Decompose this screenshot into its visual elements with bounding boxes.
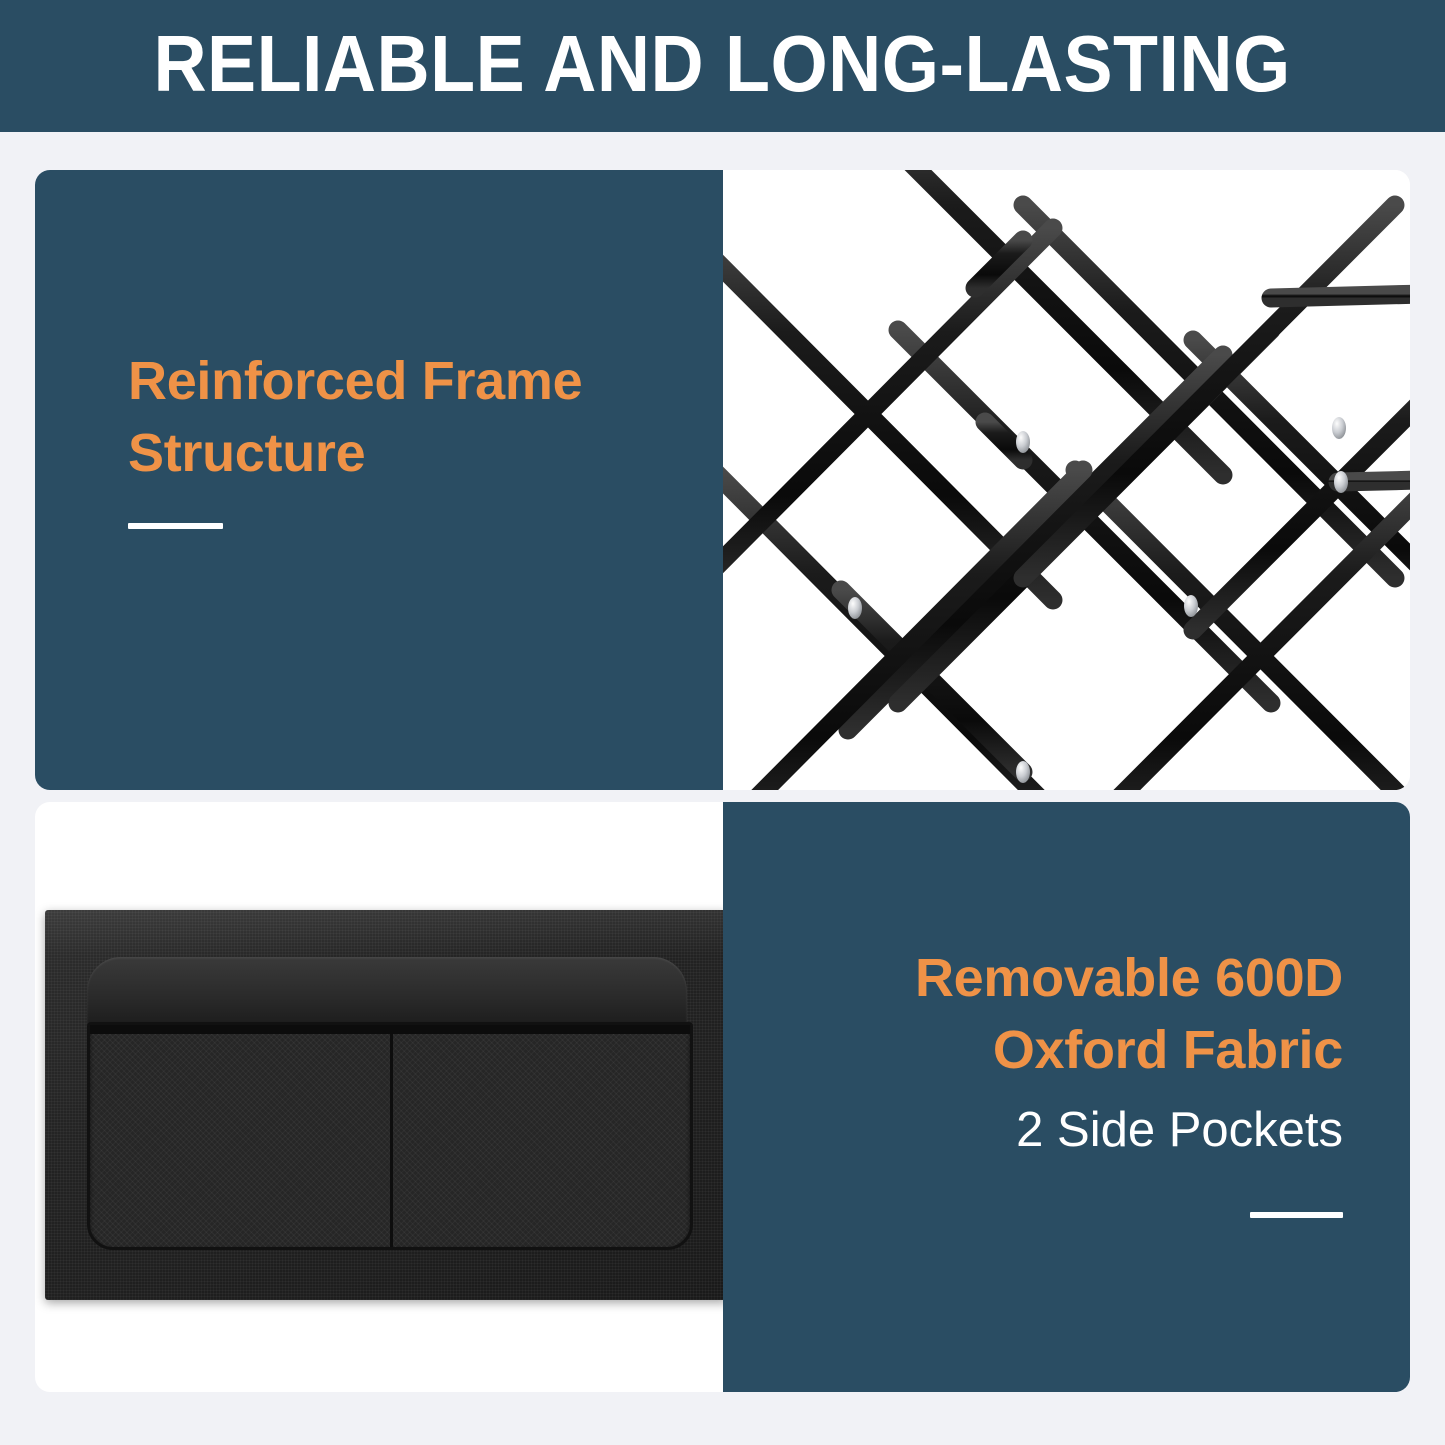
fabric-subheading: 2 Side Pockets <box>843 1098 1343 1162</box>
frame-heading-line-2: Structure <box>128 417 668 489</box>
fabric-text-block: Removable 600D Oxford Fabric 2 Side Pock… <box>843 942 1343 1218</box>
panel-frame-photo <box>723 170 1410 790</box>
panel-reinforced-frame-text: Reinforced Frame Structure <box>35 170 723 790</box>
fabric-heading-line-1: Removable 600D <box>843 942 1343 1014</box>
pocket-top-band <box>90 1025 690 1034</box>
fabric-top-flap <box>87 957 687 1025</box>
frame-text-block: Reinforced Frame Structure <box>128 345 668 529</box>
fabric-side-pockets <box>87 1022 693 1250</box>
fabric-heading-line-2: Oxford Fabric <box>843 1014 1343 1086</box>
oxford-fabric-cover <box>45 910 723 1300</box>
product-infographic: RELIABLE AND LONG-LASTING Reinforced Fra… <box>0 0 1445 1445</box>
header-title: RELIABLE AND LONG-LASTING <box>154 24 1291 108</box>
panel-oxford-fabric-text: Removable 600D Oxford Fabric 2 Side Pock… <box>723 802 1410 1392</box>
frame-heading-line-1: Reinforced Frame <box>128 345 668 417</box>
scissor-frame-illustration <box>723 170 1410 790</box>
panel-fabric-photo <box>35 802 723 1392</box>
frame-divider-rule <box>128 523 223 529</box>
pocket-center-divider <box>390 1034 393 1247</box>
header-banner: RELIABLE AND LONG-LASTING <box>0 0 1445 132</box>
fabric-divider-rule <box>1250 1212 1343 1218</box>
fabric-top-highlight <box>45 910 723 956</box>
